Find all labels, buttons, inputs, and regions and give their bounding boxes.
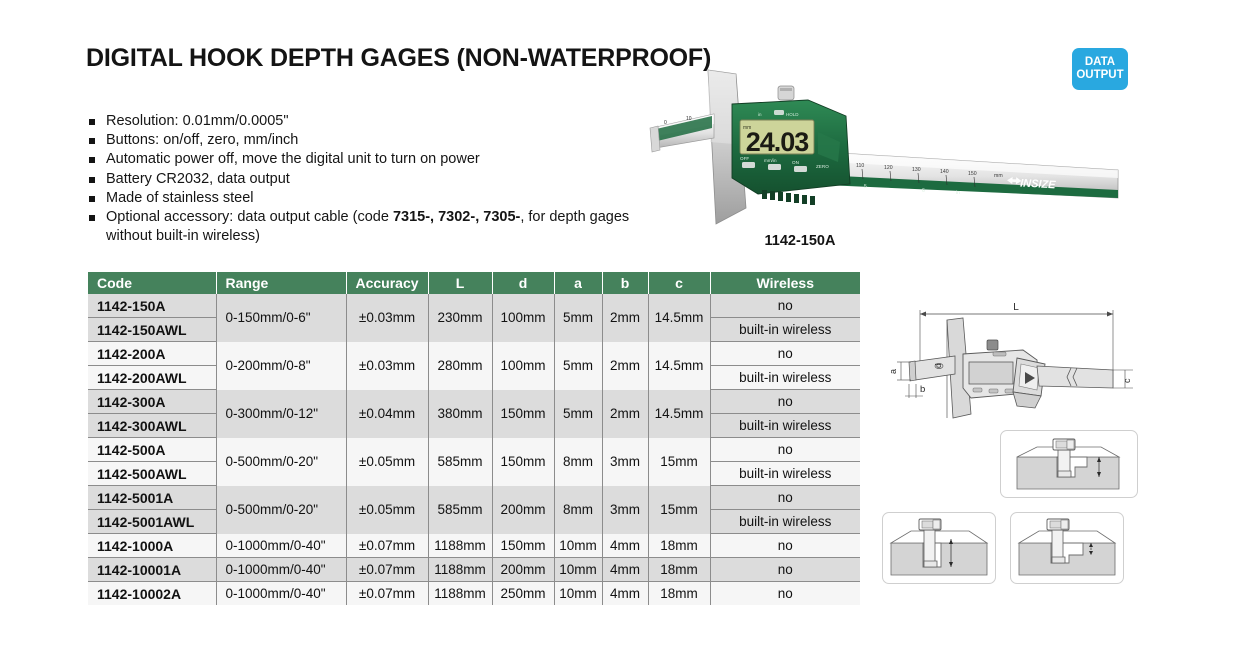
cell-l: 1188mm xyxy=(428,534,492,558)
cell-wireless: no xyxy=(710,558,860,582)
bullet-square-icon xyxy=(89,138,95,144)
svg-text:110: 110 xyxy=(856,163,864,169)
hook-arm: 0 10 xyxy=(650,114,714,152)
cell-range: 0-1000mm/0-40" xyxy=(216,582,346,606)
dimension-drawing: L a b d xyxy=(885,292,1170,432)
bullet-square-icon xyxy=(89,196,95,202)
svg-text:OFF: OFF xyxy=(740,156,749,161)
cell-d: 250mm xyxy=(492,582,554,606)
header-wireless: Wireless xyxy=(710,272,860,294)
catalog-page: DIGITAL HOOK DEPTH GAGES (NON-WATERPROOF… xyxy=(0,0,1241,669)
cell-c: 18mm xyxy=(648,534,710,558)
bullet-square-icon xyxy=(89,119,95,125)
cell-c: 15mm xyxy=(648,486,710,534)
cell-code: 1142-5001AWL xyxy=(88,510,216,534)
cell-wireless: no xyxy=(710,438,860,462)
cell-wireless: built-in wireless xyxy=(710,366,860,390)
page-title: DIGITAL HOOK DEPTH GAGES (NON-WATERPROOF… xyxy=(86,44,711,73)
cell-code: 1142-300A xyxy=(88,390,216,414)
svg-text:ON: ON xyxy=(792,160,799,165)
cell-code: 1142-200A xyxy=(88,342,216,366)
table-row: 1142-10001A 0-1000mm/0-40" ±0.07mm 1188m… xyxy=(88,558,860,582)
digital-unit: in HOLD mm 24.03 OFF mm/in ON ZERO xyxy=(732,86,850,205)
svg-text:10: 10 xyxy=(686,116,692,122)
cell-wireless: no xyxy=(710,582,860,606)
cell-d: 100mm xyxy=(492,294,554,342)
cell-code: 1142-5001A xyxy=(88,486,216,510)
dimension-label-b: b xyxy=(920,384,925,395)
cell-a: 10mm xyxy=(554,534,602,558)
cell-wireless: built-in wireless xyxy=(710,510,860,534)
cell-a: 5mm xyxy=(554,342,602,390)
svg-text:INSIZE: INSIZE xyxy=(1020,177,1057,191)
cell-l: 585mm xyxy=(428,438,492,486)
feature-list: Resolution: 0.01mm/0.0005" Buttons: on/o… xyxy=(88,112,648,246)
feature-item: Resolution: 0.01mm/0.0005" xyxy=(88,112,648,131)
cell-d: 150mm xyxy=(492,534,554,558)
cell-accuracy: ±0.05mm xyxy=(346,438,428,486)
cell-l: 1188mm xyxy=(428,582,492,606)
cell-wireless: no xyxy=(710,294,860,318)
cell-b: 3mm xyxy=(602,486,648,534)
svg-text:mm: mm xyxy=(994,173,1003,179)
feature-text: Resolution: 0.01mm/0.0005" xyxy=(106,113,288,129)
cell-range: 0-500mm/0-20" xyxy=(216,486,346,534)
feature-text: Buttons: on/off, zero, mm/inch xyxy=(106,132,298,148)
cell-accuracy: ±0.07mm xyxy=(346,558,428,582)
cell-range: 0-300mm/0-12" xyxy=(216,390,346,438)
cell-c: 14.5mm xyxy=(648,390,710,438)
feature-item-optional-accessory: Optional accessory: data output cable (c… xyxy=(88,208,648,246)
lcd-display: mm 24.03 xyxy=(740,120,814,157)
cell-code: 1142-10001A xyxy=(88,558,216,582)
table-row: 1142-10002A 0-1000mm/0-40" ±0.07mm 1188m… xyxy=(88,582,860,606)
cell-accuracy: ±0.07mm xyxy=(346,534,428,558)
cell-b: 2mm xyxy=(602,294,648,342)
bullet-square-icon xyxy=(89,157,95,163)
feature-text: Battery CR2032, data output xyxy=(106,171,290,187)
table-row: 1142-150A 0-150mm/0-6" ±0.03mm 230mm 100… xyxy=(88,294,860,318)
cell-l: 280mm xyxy=(428,342,492,390)
svg-text:5: 5 xyxy=(864,184,867,190)
cell-d: 150mm xyxy=(492,438,554,486)
dimension-label-a: a xyxy=(888,369,898,374)
dimension-label-L: L xyxy=(1013,302,1019,313)
svg-text:ZERO: ZERO xyxy=(816,164,829,169)
cell-a: 5mm xyxy=(554,390,602,438)
product-photo: 0 10 90 100 110 120 130 140 150 mm xyxy=(650,58,1120,233)
cell-d: 200mm xyxy=(492,558,554,582)
cell-code: 1142-500A xyxy=(88,438,216,462)
cell-wireless: no xyxy=(710,342,860,366)
specification-table: Code Range Accuracy L d a b c Wireless 1… xyxy=(88,272,860,605)
header-range: Range xyxy=(216,272,346,294)
cell-b: 2mm xyxy=(602,390,648,438)
cell-accuracy: ±0.03mm xyxy=(346,294,428,342)
svg-text:130: 130 xyxy=(912,167,921,173)
optional-code-2: 7302-, 7305- xyxy=(438,209,520,225)
cell-a: 10mm xyxy=(554,582,602,606)
cell-accuracy: ±0.04mm xyxy=(346,390,428,438)
cell-code: 1142-150AWL xyxy=(88,318,216,342)
cell-a: 8mm xyxy=(554,438,602,486)
cell-c: 15mm xyxy=(648,438,710,486)
header-b: b xyxy=(602,272,648,294)
cell-c: 14.5mm xyxy=(648,294,710,342)
cell-wireless: built-in wireless xyxy=(710,414,860,438)
cell-code: 1142-500AWL xyxy=(88,462,216,486)
dimension-label-c: c xyxy=(1122,378,1132,383)
cell-wireless: no xyxy=(710,390,860,414)
cell-range: 0-150mm/0-6" xyxy=(216,294,346,342)
cell-wireless: built-in wireless xyxy=(710,462,860,486)
cell-c: 14.5mm xyxy=(648,342,710,390)
cell-b: 4mm xyxy=(602,582,648,606)
cell-l: 1188mm xyxy=(428,558,492,582)
svg-text:150: 150 xyxy=(968,171,977,177)
cell-a: 10mm xyxy=(554,558,602,582)
cell-a: 5mm xyxy=(554,294,602,342)
feature-item: Buttons: on/off, zero, mm/inch xyxy=(88,131,648,150)
cell-d: 100mm xyxy=(492,342,554,390)
svg-text:6: 6 xyxy=(922,188,925,194)
svg-text:HOLD: HOLD xyxy=(786,112,799,117)
dimension-label-d: d xyxy=(933,363,943,368)
table-row: 1142-1000A 0-1000mm/0-40" ±0.07mm 1188mm… xyxy=(88,534,860,558)
cell-accuracy: ±0.05mm xyxy=(346,486,428,534)
cell-b: 4mm xyxy=(602,534,648,558)
cell-code: 1142-150A xyxy=(88,294,216,318)
cell-range: 0-1000mm/0-40" xyxy=(216,534,346,558)
cell-wireless: built-in wireless xyxy=(710,318,860,342)
feature-item: Made of stainless steel xyxy=(88,189,648,208)
svg-text:in: in xyxy=(956,190,960,196)
bullet-square-icon xyxy=(89,215,95,221)
cell-l: 230mm xyxy=(428,294,492,342)
header-code: Code xyxy=(88,272,216,294)
application-diagram-groove-depth xyxy=(882,512,996,584)
lcd-value: 24.03 xyxy=(746,127,810,157)
header-accuracy: Accuracy xyxy=(346,272,428,294)
cell-c: 18mm xyxy=(648,582,710,606)
application-diagram-undercut-depth xyxy=(1010,512,1124,584)
optional-prefix: Optional accessory: data output cable (c… xyxy=(106,209,393,225)
header-a: a xyxy=(554,272,602,294)
feature-item: Automatic power off, move the digital un… xyxy=(88,150,648,169)
cell-wireless: no xyxy=(710,534,860,558)
product-photo-caption: 1142-150A xyxy=(650,233,950,249)
header-d: d xyxy=(492,272,554,294)
table-row: 1142-500A 0-500mm/0-20" ±0.05mm 585mm 15… xyxy=(88,438,860,462)
cell-accuracy: ±0.03mm xyxy=(346,342,428,390)
application-diagram-step-depth xyxy=(1000,430,1138,498)
cell-l: 585mm xyxy=(428,486,492,534)
cell-b: 3mm xyxy=(602,438,648,486)
cell-c: 18mm xyxy=(648,558,710,582)
cell-range: 0-500mm/0-20" xyxy=(216,438,346,486)
cell-code: 1142-200AWL xyxy=(88,366,216,390)
cell-a: 8mm xyxy=(554,486,602,534)
feature-text: Made of stainless steel xyxy=(106,190,254,206)
feature-item: Battery CR2032, data output xyxy=(88,170,648,189)
svg-text:0: 0 xyxy=(664,120,667,126)
header-c: c xyxy=(648,272,710,294)
cell-d: 150mm xyxy=(492,390,554,438)
cell-b: 4mm xyxy=(602,558,648,582)
svg-text:120: 120 xyxy=(884,165,893,171)
table-row: 1142-200A 0-200mm/0-8" ±0.03mm 280mm 100… xyxy=(88,342,860,366)
table-row: 1142-5001A 0-500mm/0-20" ±0.05mm 585mm 2… xyxy=(88,486,860,510)
bullet-square-icon xyxy=(89,177,95,183)
table-row: 1142-300A 0-300mm/0-12" ±0.04mm 380mm 15… xyxy=(88,390,860,414)
cell-accuracy: ±0.07mm xyxy=(346,582,428,606)
cell-d: 200mm xyxy=(492,486,554,534)
svg-text:in: in xyxy=(758,112,762,117)
cell-code: 1142-300AWL xyxy=(88,414,216,438)
cell-range: 0-1000mm/0-40" xyxy=(216,558,346,582)
cell-code: 1142-1000A xyxy=(88,534,216,558)
cell-l: 380mm xyxy=(428,390,492,438)
svg-text:140: 140 xyxy=(940,169,949,175)
optional-code-1: 7315-, xyxy=(393,209,434,225)
header-l: L xyxy=(428,272,492,294)
cell-range: 0-200mm/0-8" xyxy=(216,342,346,390)
feature-text: Automatic power off, move the digital un… xyxy=(106,151,480,167)
cell-code: 1142-10002A xyxy=(88,582,216,606)
table-header-row: Code Range Accuracy L d a b c Wireless xyxy=(88,272,860,294)
cell-b: 2mm xyxy=(602,342,648,390)
svg-text:mm/in: mm/in xyxy=(764,158,777,163)
cell-wireless: no xyxy=(710,486,860,510)
